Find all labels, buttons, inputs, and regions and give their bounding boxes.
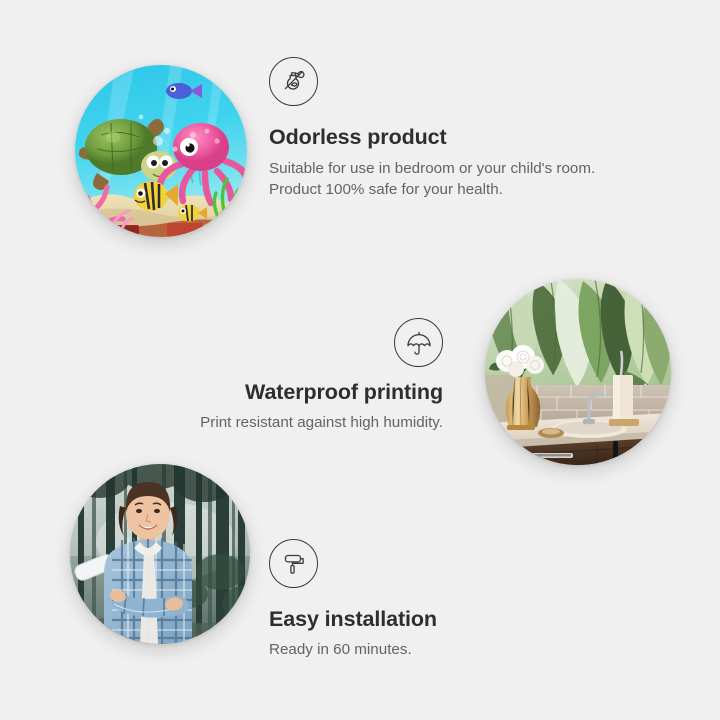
feature-waterproof-icon-wrap: [0, 318, 443, 367]
no-odor-perfume-bottle-icon: [269, 57, 318, 106]
feature-panel: Odorless product Suitable for use in bed…: [0, 0, 720, 720]
umbrella-icon: [394, 318, 443, 367]
feature-installation-icon-wrap: [269, 539, 437, 588]
woman-with-paint-roller-photo: [70, 464, 250, 644]
feature-description: Print resistant against high humidity.: [0, 412, 443, 434]
feature-odorless-icon-wrap: [269, 57, 599, 106]
underwater-cartoon-mural-photo: [75, 65, 247, 237]
feature-waterproof: Waterproof printing Print resistant agai…: [0, 318, 443, 433]
feature-title: Waterproof printing: [0, 379, 443, 406]
feature-title: Odorless product: [269, 124, 599, 151]
paint-roller-icon: [269, 539, 318, 588]
feature-title: Easy installation: [269, 606, 437, 633]
feature-installation: Easy installation Ready in 60 minutes.: [269, 539, 437, 660]
bathroom-vanity-photo: [485, 279, 671, 465]
feature-odorless: Odorless product Suitable for use in bed…: [269, 57, 599, 201]
feature-description: Suitable for use in bedroom or your chil…: [269, 158, 599, 201]
feature-description: Ready in 60 minutes.: [269, 639, 437, 661]
